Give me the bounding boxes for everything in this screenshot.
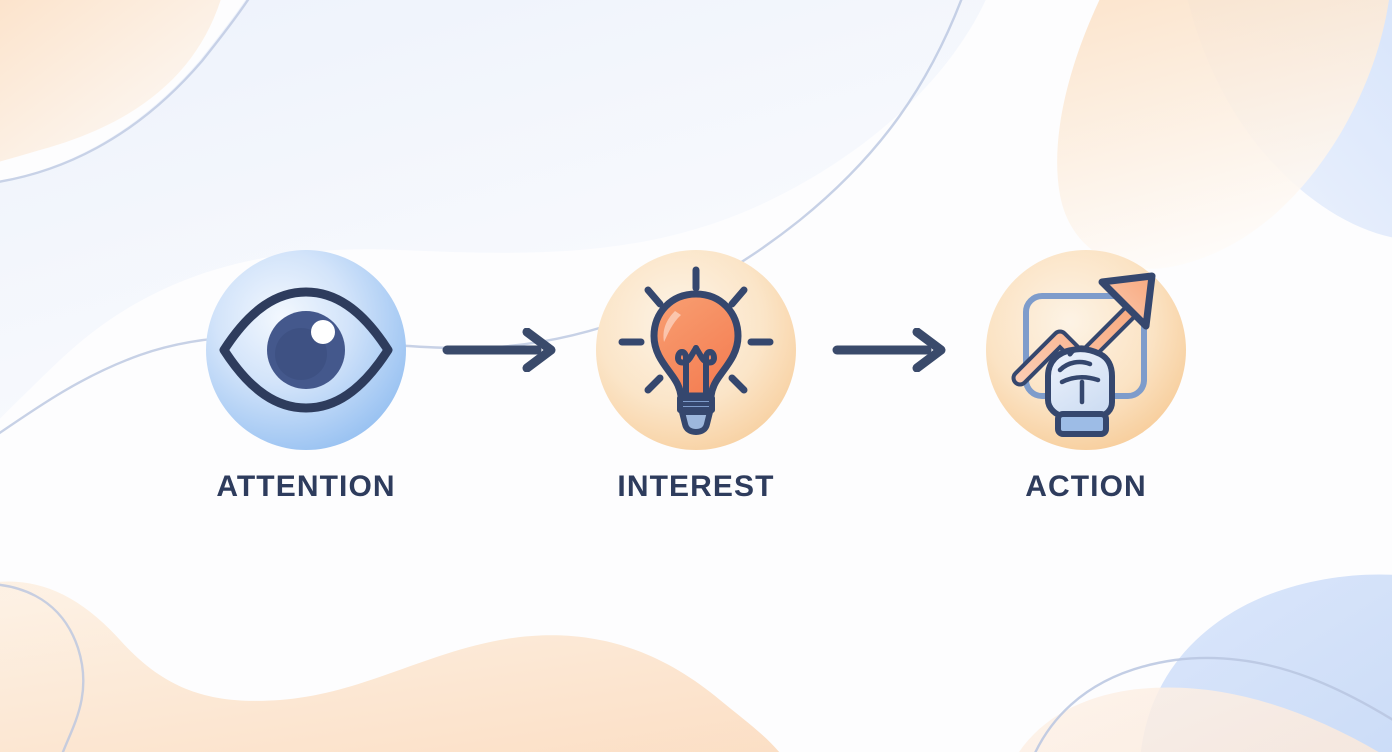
funnel-flow: ATTENTION [0,0,1392,752]
eye-highlight [311,320,335,344]
eye-icon [206,250,406,450]
diagram-canvas: ATTENTION [0,0,1392,752]
stage-label-attention: ATTENTION [216,472,395,502]
lightbulb-icon [596,250,796,450]
arrow-right-icon-1 [421,320,581,380]
arrow-right-icon-2 [811,320,971,380]
stage-action[interactable]: ACTION [971,250,1201,502]
rising-arrow-fist-icon [986,250,1186,450]
stage-label-interest: INTEREST [617,472,774,502]
stage-label-action: ACTION [1025,472,1147,502]
lightbulb-base-lower [682,412,710,432]
stage-attention[interactable]: ATTENTION [191,250,421,502]
wrist-cuff [1058,414,1106,434]
stage-interest[interactable]: INTEREST [581,250,811,502]
